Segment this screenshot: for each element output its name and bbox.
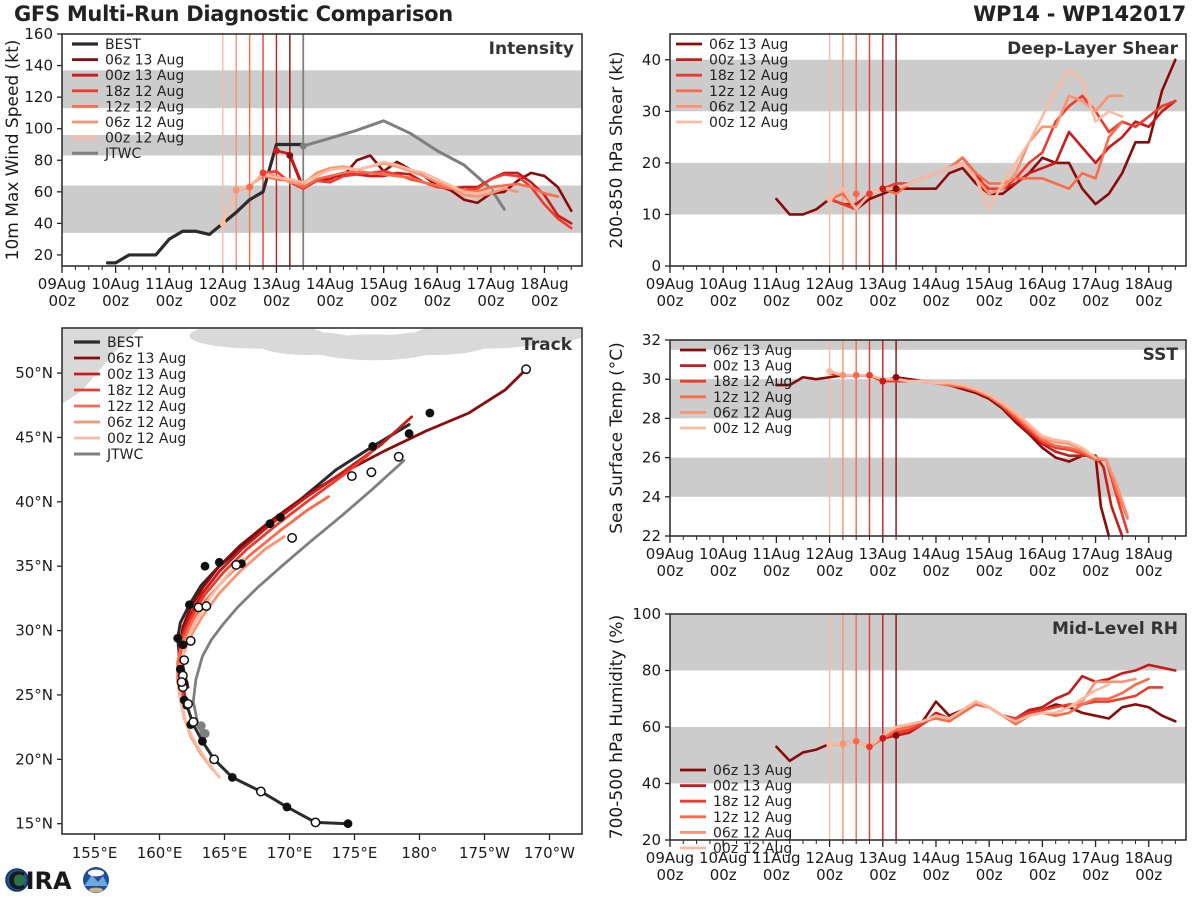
svg-text:13Aug: 13Aug bbox=[859, 275, 907, 293]
svg-text:15Aug: 15Aug bbox=[965, 275, 1013, 293]
track-marker-00z bbox=[215, 558, 224, 567]
svg-text:00z: 00z bbox=[763, 562, 790, 580]
legend-label: 00z 12 Aug bbox=[105, 131, 184, 147]
init-marker bbox=[246, 184, 253, 191]
init-marker bbox=[826, 368, 833, 375]
legend-label: 12z 12 Aug bbox=[107, 399, 186, 415]
legend-label: 12z 12 Aug bbox=[709, 84, 788, 100]
track-marker-00z bbox=[405, 429, 414, 438]
legend-label: 00z 12 Aug bbox=[713, 841, 792, 857]
svg-text:17Aug: 17Aug bbox=[467, 275, 515, 293]
init-marker bbox=[879, 185, 886, 192]
svg-text:12Aug: 12Aug bbox=[805, 275, 853, 293]
init-marker bbox=[853, 190, 860, 197]
legend-label: 12z 12 Aug bbox=[713, 810, 792, 826]
svg-text:180°: 180° bbox=[401, 844, 437, 862]
svg-text:16Aug: 16Aug bbox=[1018, 545, 1066, 563]
init-marker bbox=[219, 220, 226, 227]
init-marker bbox=[853, 372, 860, 379]
svg-text:00z: 00z bbox=[657, 292, 684, 310]
track-marker-12z bbox=[288, 534, 296, 542]
svg-text:10Aug: 10Aug bbox=[699, 545, 747, 563]
panel-title: Track bbox=[521, 335, 573, 355]
svg-text:20: 20 bbox=[642, 831, 661, 849]
svg-text:35°N: 35°N bbox=[15, 557, 53, 575]
svg-text:18Aug: 18Aug bbox=[520, 275, 568, 293]
track-marker-00z bbox=[344, 819, 353, 828]
track-marker-00z bbox=[368, 442, 377, 451]
init-marker bbox=[893, 732, 900, 739]
track-marker-12z bbox=[194, 603, 202, 611]
svg-text:50°N: 50°N bbox=[15, 364, 53, 382]
track-marker-12z bbox=[202, 602, 210, 610]
track-marker-12z bbox=[189, 718, 197, 726]
legend-label: 18z 12 Aug bbox=[105, 84, 184, 100]
init-marker bbox=[866, 190, 873, 197]
init-marker bbox=[839, 372, 846, 379]
svg-text:00z: 00z bbox=[816, 866, 843, 884]
init-marker bbox=[839, 741, 846, 748]
track-marker-12z bbox=[210, 755, 218, 763]
init-marker bbox=[233, 187, 240, 194]
legend-label: 06z 13 Aug bbox=[713, 763, 792, 779]
svg-text:32: 32 bbox=[642, 331, 661, 349]
svg-text:09Aug: 09Aug bbox=[646, 545, 694, 563]
svg-text:140: 140 bbox=[24, 57, 53, 75]
init-marker bbox=[893, 185, 900, 192]
svg-text:00z: 00z bbox=[1135, 292, 1162, 310]
svg-text:00z: 00z bbox=[976, 292, 1003, 310]
svg-text:00z: 00z bbox=[1082, 292, 1109, 310]
svg-text:60: 60 bbox=[642, 718, 661, 736]
track-marker-12z bbox=[348, 472, 356, 480]
track-marker-00z bbox=[228, 773, 237, 782]
svg-text:09Aug: 09Aug bbox=[646, 275, 694, 293]
y-axis-label: 200-850 hPa Shear (kt) bbox=[607, 51, 627, 248]
svg-text:12Aug: 12Aug bbox=[805, 545, 853, 563]
legend-label: 00z 13 Aug bbox=[107, 367, 186, 383]
init-marker bbox=[853, 738, 860, 745]
svg-text:16Aug: 16Aug bbox=[1018, 275, 1066, 293]
track-marker-12z bbox=[311, 818, 319, 826]
svg-text:18Aug: 18Aug bbox=[1125, 849, 1173, 867]
svg-text:120: 120 bbox=[24, 88, 53, 106]
track-marker-12z bbox=[367, 468, 375, 476]
rh-panel: 2040608010009Aug00z10Aug00z11Aug00z12Aug… bbox=[600, 592, 1200, 892]
svg-text:20°N: 20°N bbox=[15, 750, 53, 768]
track-marker-12z bbox=[180, 656, 188, 664]
svg-text:100: 100 bbox=[632, 605, 661, 623]
legend-label: 06z 13 Aug bbox=[107, 351, 186, 367]
svg-text:00z: 00z bbox=[869, 866, 896, 884]
legend-label: 18z 12 Aug bbox=[713, 794, 792, 810]
svg-text:17Aug: 17Aug bbox=[1071, 545, 1119, 563]
svg-text:00z: 00z bbox=[922, 866, 949, 884]
panel-title: Intensity bbox=[489, 39, 574, 59]
init-marker bbox=[866, 743, 873, 750]
track-marker-12z bbox=[184, 700, 192, 708]
init-marker bbox=[260, 169, 267, 176]
svg-text:00z: 00z bbox=[922, 562, 949, 580]
track-panel: 15°N20°N25°N30°N35°N40°N45°N50°N155°E160… bbox=[0, 320, 600, 880]
svg-text:00z: 00z bbox=[1029, 292, 1056, 310]
svg-text:15Aug: 15Aug bbox=[965, 849, 1013, 867]
svg-text:30°N: 30°N bbox=[15, 622, 53, 640]
svg-text:16Aug: 16Aug bbox=[1018, 849, 1066, 867]
svg-text:45°N: 45°N bbox=[15, 428, 53, 446]
init-marker bbox=[866, 372, 873, 379]
svg-text:00z: 00z bbox=[763, 866, 790, 884]
svg-text:00z: 00z bbox=[816, 562, 843, 580]
svg-text:13Aug: 13Aug bbox=[252, 275, 300, 293]
svg-text:00z: 00z bbox=[370, 292, 397, 310]
init-marker bbox=[826, 196, 833, 203]
svg-text:40: 40 bbox=[34, 214, 53, 232]
svg-text:160°E: 160°E bbox=[137, 844, 183, 862]
svg-text:00z: 00z bbox=[869, 292, 896, 310]
legend-label: BEST bbox=[107, 335, 143, 351]
svg-text:17Aug: 17Aug bbox=[1071, 275, 1119, 293]
svg-text:00z: 00z bbox=[1029, 866, 1056, 884]
svg-text:80: 80 bbox=[34, 151, 53, 169]
svg-text:22: 22 bbox=[642, 527, 661, 545]
svg-text:00z: 00z bbox=[1082, 562, 1109, 580]
track-marker-00z bbox=[185, 600, 194, 609]
svg-text:30: 30 bbox=[642, 370, 661, 388]
svg-text:09Aug: 09Aug bbox=[646, 849, 694, 867]
svg-text:80: 80 bbox=[642, 662, 661, 680]
svg-text:16Aug: 16Aug bbox=[413, 275, 461, 293]
legend-label: 00z 13 Aug bbox=[713, 779, 792, 795]
svg-text:10Aug: 10Aug bbox=[91, 275, 139, 293]
legend-label: JTWC bbox=[104, 146, 142, 162]
svg-text:10Aug: 10Aug bbox=[699, 275, 747, 293]
track-marker-12z bbox=[187, 637, 195, 645]
svg-text:00z: 00z bbox=[1082, 866, 1109, 884]
legend-label: BEST bbox=[105, 37, 141, 53]
init-marker bbox=[879, 378, 886, 385]
svg-text:00z: 00z bbox=[976, 562, 1003, 580]
init-marker bbox=[879, 735, 886, 742]
svg-text:00z: 00z bbox=[209, 292, 236, 310]
legend-label: 06z 12 Aug bbox=[107, 415, 186, 431]
track-marker-12z bbox=[395, 453, 403, 461]
track-marker-12z bbox=[522, 365, 530, 373]
track-marker-00z bbox=[266, 519, 275, 528]
legend-label: 00z 12 Aug bbox=[107, 431, 186, 447]
svg-text:28: 28 bbox=[642, 409, 661, 427]
y-axis-label: 10m Max Wind Speed (kt) bbox=[3, 40, 23, 261]
svg-text:12Aug: 12Aug bbox=[805, 849, 853, 867]
svg-text:170°W: 170°W bbox=[524, 844, 575, 862]
init-marker bbox=[826, 741, 833, 748]
panel-title: SST bbox=[1143, 345, 1179, 365]
svg-text:00z: 00z bbox=[922, 292, 949, 310]
legend-label: 18z 12 Aug bbox=[713, 374, 792, 390]
track-marker-00z bbox=[283, 803, 292, 812]
svg-text:170°E: 170°E bbox=[267, 844, 313, 862]
init-marker bbox=[300, 143, 307, 150]
legend-label: 00z 12 Aug bbox=[709, 115, 788, 131]
svg-text:155°E: 155°E bbox=[72, 844, 118, 862]
legend-label: 06z 12 Aug bbox=[713, 405, 792, 421]
track-marker-00z bbox=[201, 562, 210, 571]
svg-text:60: 60 bbox=[34, 183, 53, 201]
svg-text:25°N: 25°N bbox=[15, 686, 53, 704]
svg-text:00z: 00z bbox=[102, 292, 129, 310]
svg-text:00z: 00z bbox=[49, 292, 76, 310]
svg-text:00z: 00z bbox=[263, 292, 290, 310]
storm-id: WP14 - WP142017 bbox=[973, 2, 1186, 26]
y-axis-label: 700-500 hPa Humidity (%) bbox=[607, 615, 627, 839]
svg-text:00z: 00z bbox=[869, 562, 896, 580]
legend-label: 00z 12 Aug bbox=[713, 421, 792, 437]
svg-text:13Aug: 13Aug bbox=[859, 849, 907, 867]
legend-label: 12z 12 Aug bbox=[713, 390, 792, 406]
legend-label: 06z 12 Aug bbox=[709, 99, 788, 115]
track-marker-00z bbox=[276, 513, 285, 522]
svg-text:18Aug: 18Aug bbox=[1125, 275, 1173, 293]
legend-label: 00z 13 Aug bbox=[709, 53, 788, 69]
intensity-panel: 2040608010012014016009Aug00z10Aug00z11Au… bbox=[0, 26, 600, 318]
svg-text:24: 24 bbox=[642, 488, 661, 506]
track-marker-00z bbox=[198, 737, 207, 746]
svg-text:00z: 00z bbox=[976, 866, 1003, 884]
track-marker-00z bbox=[426, 409, 435, 418]
svg-text:17Aug: 17Aug bbox=[1071, 849, 1119, 867]
legend-label: 00z 13 Aug bbox=[713, 359, 792, 375]
svg-text:00z: 00z bbox=[763, 292, 790, 310]
legend-label: 06z 13 Aug bbox=[713, 343, 792, 359]
svg-text:11Aug: 11Aug bbox=[752, 275, 800, 293]
svg-text:30: 30 bbox=[642, 102, 661, 120]
legend-label: JTWC bbox=[106, 447, 144, 463]
legend-label: 18z 12 Aug bbox=[709, 68, 788, 84]
legend-label: 06z 13 Aug bbox=[105, 53, 184, 69]
svg-text:CIRA: CIRA bbox=[8, 867, 72, 895]
sst-panel: 22242628303209Aug00z10Aug00z11Aug00z12Au… bbox=[600, 318, 1200, 588]
svg-text:00z: 00z bbox=[317, 292, 344, 310]
svg-text:00z: 00z bbox=[424, 292, 451, 310]
track-marker-12z bbox=[232, 561, 240, 569]
svg-text:40: 40 bbox=[642, 51, 661, 69]
svg-text:11Aug: 11Aug bbox=[752, 545, 800, 563]
svg-text:00z: 00z bbox=[477, 292, 504, 310]
svg-text:14Aug: 14Aug bbox=[912, 545, 960, 563]
legend-label: 06z 12 Aug bbox=[105, 115, 184, 131]
svg-text:00z: 00z bbox=[657, 866, 684, 884]
track-marker-12z bbox=[257, 787, 265, 795]
svg-text:11Aug: 11Aug bbox=[145, 275, 193, 293]
svg-text:12Aug: 12Aug bbox=[199, 275, 247, 293]
svg-text:15°N: 15°N bbox=[15, 815, 53, 833]
svg-text:14Aug: 14Aug bbox=[912, 275, 960, 293]
svg-text:18Aug: 18Aug bbox=[1125, 545, 1173, 563]
svg-text:100: 100 bbox=[24, 120, 53, 138]
svg-text:15Aug: 15Aug bbox=[359, 275, 407, 293]
svg-text:0: 0 bbox=[651, 257, 661, 275]
svg-text:09Aug: 09Aug bbox=[38, 275, 86, 293]
svg-text:00z: 00z bbox=[710, 292, 737, 310]
svg-text:00z: 00z bbox=[156, 292, 183, 310]
svg-text:00z: 00z bbox=[657, 562, 684, 580]
svg-text:14Aug: 14Aug bbox=[306, 275, 354, 293]
legend-label: 12z 12 Aug bbox=[105, 99, 184, 115]
svg-text:10: 10 bbox=[642, 205, 661, 223]
svg-text:40: 40 bbox=[642, 775, 661, 793]
svg-text:40°N: 40°N bbox=[15, 493, 53, 511]
svg-text:26: 26 bbox=[642, 449, 661, 467]
svg-text:13Aug: 13Aug bbox=[859, 545, 907, 563]
svg-text:15Aug: 15Aug bbox=[965, 545, 1013, 563]
svg-text:165°E: 165°E bbox=[202, 844, 248, 862]
svg-text:175°W: 175°W bbox=[459, 844, 510, 862]
svg-text:14Aug: 14Aug bbox=[912, 849, 960, 867]
y-axis-label: Sea Surface Temp (°C) bbox=[607, 342, 627, 534]
svg-text:160: 160 bbox=[24, 25, 53, 43]
svg-text:20: 20 bbox=[642, 154, 661, 172]
init-marker bbox=[273, 147, 280, 154]
svg-text:00z: 00z bbox=[710, 562, 737, 580]
svg-text:00z: 00z bbox=[1135, 866, 1162, 884]
track-marker-12z bbox=[177, 678, 185, 686]
panel-title: Deep-Layer Shear bbox=[1007, 39, 1178, 59]
svg-text:00z: 00z bbox=[1029, 562, 1056, 580]
cira-logo: CIRA bbox=[4, 862, 116, 898]
svg-text:20: 20 bbox=[34, 246, 53, 264]
legend-label: 06z 12 Aug bbox=[713, 825, 792, 841]
panel-title: Mid-Level RH bbox=[1052, 619, 1178, 639]
svg-text:175°E: 175°E bbox=[332, 844, 378, 862]
svg-text:00z: 00z bbox=[1135, 562, 1162, 580]
legend-label: 18z 12 Aug bbox=[107, 383, 186, 399]
legend-label: 00z 13 Aug bbox=[105, 68, 184, 84]
svg-text:00z: 00z bbox=[816, 292, 843, 310]
shear-panel: 01020304009Aug00z10Aug00z11Aug00z12Aug00… bbox=[600, 26, 1200, 318]
init-marker bbox=[286, 152, 293, 159]
svg-text:00z: 00z bbox=[531, 292, 558, 310]
legend-label: 06z 13 Aug bbox=[709, 37, 788, 53]
init-marker bbox=[893, 374, 900, 381]
page-title: GFS Multi-Run Diagnostic Comparison bbox=[14, 2, 453, 26]
svg-text:00z: 00z bbox=[710, 866, 737, 884]
